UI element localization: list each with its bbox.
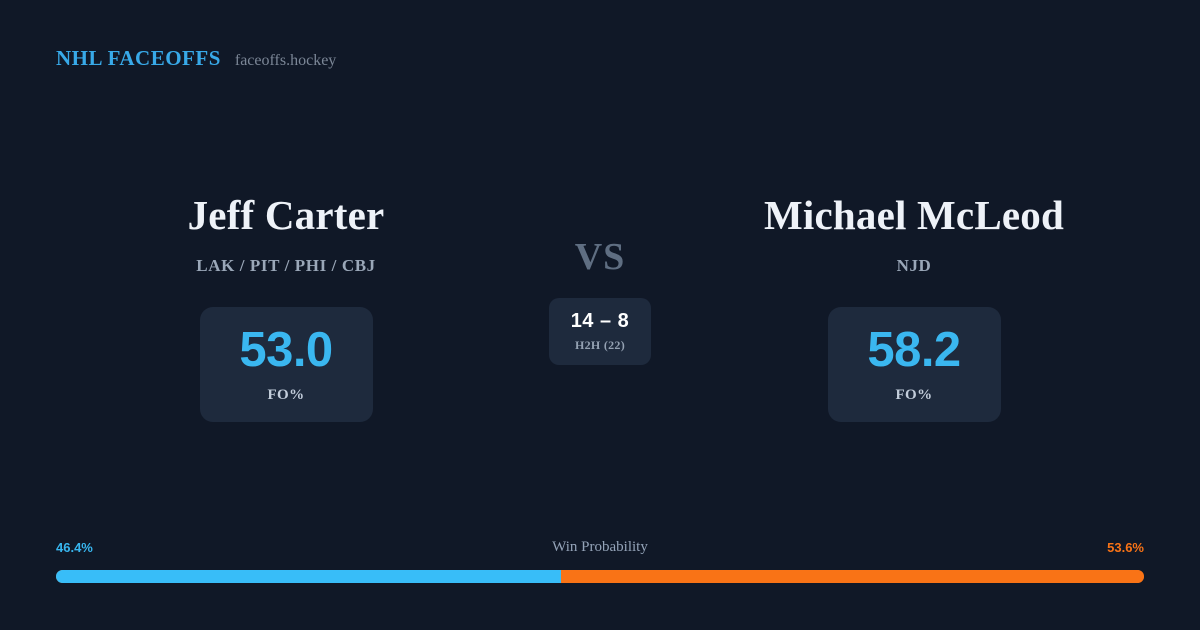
player-name-right: Michael McLeod — [764, 195, 1064, 236]
win-probability-section: 46.4% Win Probability 53.6% — [56, 540, 1144, 583]
brand-title: NHL FACEOFFS — [56, 46, 221, 71]
stat-label-left: FO% — [267, 387, 304, 404]
player-teams-left: LAK / PIT / PHI / CBJ — [196, 256, 375, 276]
head-to-head-record: 14 – 8 — [571, 311, 630, 331]
head-to-head-card: 14 – 8 H2H (22) — [549, 298, 651, 365]
versus-block: VS 14 – 8 H2H (22) — [500, 195, 700, 365]
win-probability-bar-left-fill — [56, 570, 561, 583]
versus-label: VS — [575, 238, 626, 276]
brand-domain-label: faceoffs.hockey — [235, 52, 336, 70]
stat-label-right: FO% — [895, 387, 932, 404]
matchup-section: Jeff Carter LAK / PIT / PHI / CBJ 53.0 F… — [0, 195, 1200, 435]
stat-value-left: 53.0 — [239, 326, 332, 375]
player-block-left: Jeff Carter LAK / PIT / PHI / CBJ 53.0 F… — [76, 195, 496, 422]
stat-card-right: 58.2 FO% — [828, 307, 1001, 422]
brand-header: NHL FACEOFFS faceoffs.hockey — [56, 46, 336, 71]
win-probability-title: Win Probability — [552, 539, 648, 556]
win-probability-right-value: 53.6% — [1107, 540, 1144, 555]
win-probability-bar — [56, 570, 1144, 583]
win-probability-labels: 46.4% Win Probability 53.6% — [56, 540, 1144, 560]
stat-card-left: 53.0 FO% — [200, 307, 373, 422]
player-name-left: Jeff Carter — [188, 195, 385, 236]
player-block-right: Michael McLeod NJD 58.2 FO% — [704, 195, 1124, 422]
win-probability-bar-right-fill — [561, 570, 1144, 583]
player-teams-right: NJD — [897, 256, 932, 276]
stat-value-right: 58.2 — [867, 326, 960, 375]
win-probability-left-value: 46.4% — [56, 540, 93, 555]
head-to-head-label: H2H (22) — [575, 338, 625, 353]
